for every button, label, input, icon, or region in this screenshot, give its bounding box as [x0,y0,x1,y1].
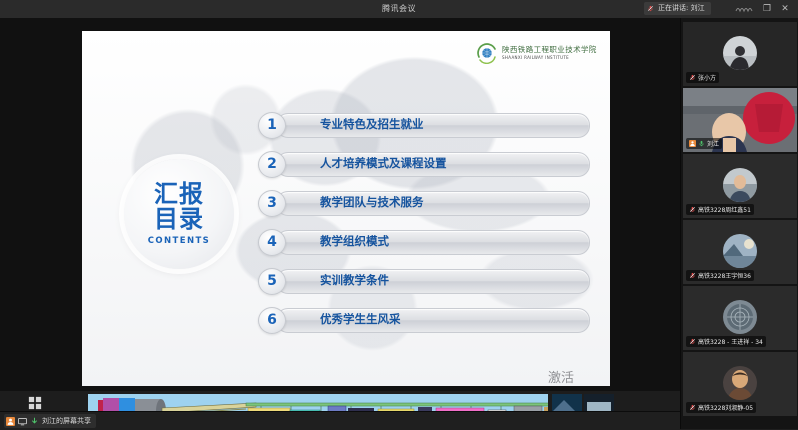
agenda-item-label: 实训教学条件 [320,269,389,292]
avatar-photo [723,300,757,334]
windows-start-icon[interactable] [28,396,42,410]
institute-logo: 陕西铁路工程职业技术学院 SHAANXI RAILWAY INSTITUTE [476,39,594,67]
participant-name: 刘江 [707,139,719,148]
shared-taskbar [0,391,680,411]
agenda-item: 2 人才培养模式及课程设置 [258,152,588,175]
institute-emblem-icon [476,42,498,64]
agenda-item-label: 专业特色及招生就业 [320,113,424,136]
tencent-meeting-window: 腾讯会议 正在讲话: 刘江 ❐ ✕ [0,0,798,429]
taskbar-thumbnail[interactable] [552,394,582,411]
avatar [723,36,757,70]
participant-label: 张小方 [686,72,719,83]
agenda-item-label: 教学组织模式 [320,230,389,253]
contents-title-line2: 目录 [154,207,204,232]
participant-tile[interactable]: 张小方 [683,22,797,86]
participant-name: 高铁3228周红鑫51 [698,205,751,214]
activation-title: 激活 Windows [548,367,610,386]
host-badge-icon [689,140,696,147]
monitor-icon [18,417,27,426]
windows-activation-watermark: 激活 Windows 转到"设置"以激活 Windows。 [548,367,610,386]
participant-label: 高铁3228周红鑫51 [686,204,754,215]
restore-window-button[interactable]: ❐ [760,2,774,16]
screen-share-status[interactable]: 刘江的屏幕共享 [4,414,96,428]
shared-screen-area[interactable]: 陕西铁路工程职业技术学院 SHAANXI RAILWAY INSTITUTE 汇… [0,18,680,411]
taskbar-thumbnail[interactable] [584,394,614,411]
agenda-item-label: 教学团队与技术服务 [320,191,424,214]
contents-subtitle: CONTENTS [148,236,210,246]
avatar-photo [723,234,757,268]
participant-tile[interactable]: 高铁3228 - 王进祥 - 34 [683,286,797,350]
microphone-muted-icon [689,74,696,81]
download-arrow-icon [30,417,39,426]
agenda-item-number: 4 [258,229,286,256]
contents-badge: 汇报 目录 CONTENTS [124,159,234,269]
agenda-item: 5 实训教学条件 [258,269,588,292]
agenda-item-label: 人才培养模式及课程设置 [320,152,447,175]
taskbar-thumbnail-preview [552,394,582,411]
participant-label: 高铁3228 - 王进祥 - 34 [686,336,766,347]
agenda-item-number: 1 [258,112,286,139]
agenda-item: 3 教学团队与技术服务 [258,191,588,214]
participant-rail[interactable]: 张小方 [680,18,798,429]
participant-name: 高铁3228王宇恒36 [698,271,751,280]
close-window-button[interactable]: ✕ [778,2,792,16]
avatar-photo [723,36,757,70]
participant-label: 刘江 [686,138,722,149]
avatar [723,366,757,400]
agenda-item: 6 优秀学生生风采 [258,308,588,331]
audio-wave-icon [735,5,753,13]
participant-label: 高铁3228王宇恒36 [686,270,754,281]
tunnel-boring-machine-drawing [96,394,548,411]
avatar [723,300,757,334]
agenda-item-number: 2 [258,151,286,178]
institute-name-en: SHAANXI RAILWAY INSTITUTE [502,56,597,60]
agenda-item-label: 优秀学生生风采 [320,308,401,331]
participants-icon [6,417,15,426]
agenda-item: 4 教学组织模式 [258,230,588,253]
microphone-muted-icon [689,206,696,213]
participant-tile[interactable]: 高铁3228王宇恒36 [683,220,797,284]
microphone-muted-icon [689,272,696,279]
speaking-indicator-text: 正在讲话: 刘江 [658,4,705,12]
microphone-muted-icon [689,404,696,411]
institute-name-cn: 陕西铁路工程职业技术学院 [502,46,597,54]
avatar-photo [723,366,757,400]
agenda-item-number: 5 [258,268,286,295]
screen-share-label: 刘江的屏幕共享 [42,416,91,426]
agenda-item: 1 专业特色及招生就业 [258,113,588,136]
participant-name: 高铁3228 - 王进祥 - 34 [698,337,763,346]
institute-logo-text: 陕西铁路工程职业技术学院 SHAANXI RAILWAY INSTITUTE [502,46,597,60]
contents-title-line1: 汇报 [154,182,204,207]
participant-label: 高铁3228刘淑静-05 [686,402,756,413]
taskbar-thumbnail-preview [584,394,614,411]
participant-name: 张小方 [698,73,716,82]
speaking-indicator: 正在讲话: 刘江 [644,2,711,15]
title-bar: 腾讯会议 正在讲话: 刘江 ❐ ✕ [0,0,798,19]
agenda-item-number: 3 [258,190,286,217]
avatar-photo [723,168,757,202]
microphone-muted-icon [689,338,696,345]
participant-tile-active[interactable]: 刘江 [683,88,797,152]
participant-name: 高铁3228刘淑静-05 [698,403,753,412]
agenda-list: 1 专业特色及招生就业 2 人才培养模式及课程设置 3 教学团队与技术服务 [258,113,588,347]
microphone-icon [698,140,705,147]
shared-desktop: 陕西铁路工程职业技术学院 SHAANXI RAILWAY INSTITUTE 汇… [0,18,680,391]
bottom-status-bar: 刘江的屏幕共享 [0,411,798,430]
tbm-diagram-thumbnail[interactable] [88,394,548,411]
avatar [723,234,757,268]
presentation-slide: 陕西铁路工程职业技术学院 SHAANXI RAILWAY INSTITUTE 汇… [82,31,610,386]
participant-tile[interactable]: 高铁3228刘淑静-05 [683,352,797,416]
participant-tile[interactable]: 高铁3228周红鑫51 [683,154,797,218]
agenda-item-number: 6 [258,307,286,334]
avatar [723,168,757,202]
microphone-icon [647,5,654,12]
